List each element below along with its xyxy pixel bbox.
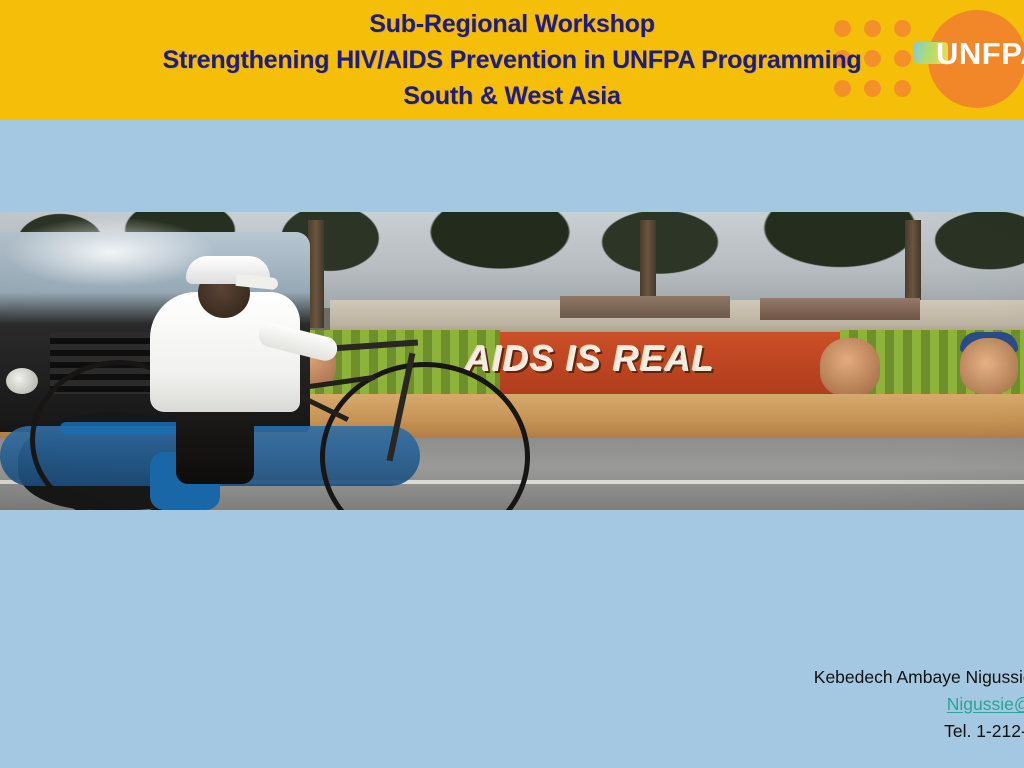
title-line-3: South & West Asia [0, 78, 1024, 114]
slide-photo: AIDS IS REAL [0, 212, 1024, 510]
presenter-telephone: Tel. 1-212-297 [756, 718, 1024, 745]
presenter-name: Kebedech Ambaye Nigussie,Te [756, 664, 1024, 691]
title-line-2: Strengthening HIV/AIDS Prevention in UNF… [0, 42, 1024, 78]
presenter-email-link[interactable]: Nigussie@unf [756, 691, 1024, 718]
presentation-slide: UNFPA Sub-Regional Workshop Strengthenin… [0, 0, 1024, 768]
title-line-1: Sub-Regional Workshop [0, 6, 1024, 42]
header-band: UNFPA Sub-Regional Workshop Strengthenin… [0, 0, 1024, 120]
slide-title: Sub-Regional Workshop Strengthening HIV/… [0, 6, 1024, 114]
presenter-credit: Kebedech Ambaye Nigussie,Te Nigussie@unf… [756, 664, 1024, 745]
photo-vignette [0, 212, 1024, 510]
